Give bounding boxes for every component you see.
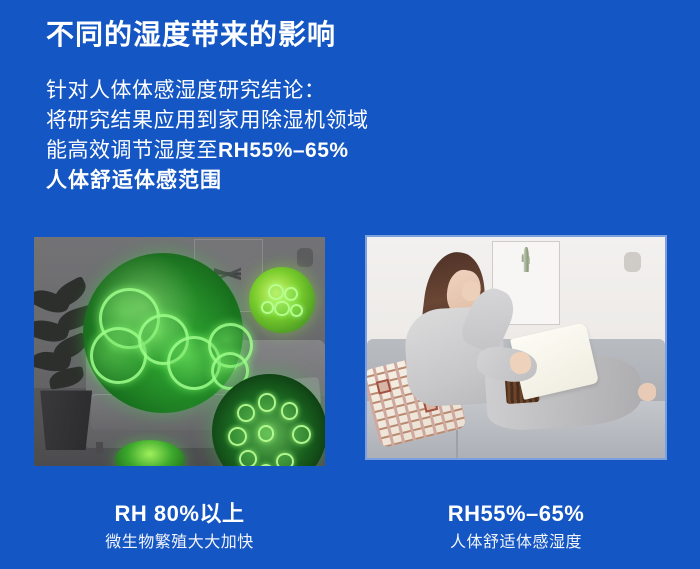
caption-title: RH 80%以上 xyxy=(34,500,325,528)
person-foot xyxy=(638,383,656,401)
microbe-spike xyxy=(281,402,299,420)
microbe-spike xyxy=(274,301,289,316)
microbe-spike xyxy=(237,404,255,422)
microbe-spike xyxy=(268,284,284,300)
cactus-arm xyxy=(528,256,530,264)
microbe-spike xyxy=(239,450,257,466)
caption-subtitle: 人体舒适体感湿度 xyxy=(367,532,665,554)
scene-dim-room-with-microbes xyxy=(34,237,325,466)
body-line-3-prefix: 能高效调节湿度至 xyxy=(46,139,218,162)
body-line-1: 针对人体体感湿度研究结论： xyxy=(46,76,369,106)
microbe-spike xyxy=(284,287,299,302)
pillow-motif xyxy=(376,379,392,395)
cactus-illustration-icon xyxy=(524,247,529,272)
cactus-arm xyxy=(522,254,524,262)
caption-comfort-humidity: RH55%–65% 人体舒适体感湿度 xyxy=(367,500,665,554)
microbe-spike xyxy=(261,301,274,314)
sofa-leg xyxy=(96,442,103,453)
body-line-4: 人体舒适体感范围 xyxy=(46,166,369,196)
caption-high-humidity: RH 80%以上 微生物繁殖大大加快 xyxy=(34,500,325,554)
wall-thermostat-icon xyxy=(297,248,313,267)
plant-pot xyxy=(37,390,92,450)
microbe-spike xyxy=(276,453,294,466)
microbe-spike xyxy=(258,464,275,466)
caption-subtitle: 微生物繁殖大大加快 xyxy=(34,532,325,554)
poster-root: 不同的湿度带来的影响 针对人体体感湿度研究结论： 将研究结果应用到家用除湿机领域… xyxy=(0,0,700,569)
microbe-cluster-large xyxy=(83,253,243,413)
photo-panel-high-humidity xyxy=(34,237,325,466)
body-line-3: 能高效调节湿度至RH55%–65% xyxy=(46,136,369,166)
microbe-spike xyxy=(292,425,311,444)
body-copy: 针对人体体感湿度研究结论： 将研究结果应用到家用除湿机领域 能高效调节湿度至RH… xyxy=(46,76,369,196)
caption-title: RH55%–65% xyxy=(367,500,665,528)
body-line-3-highlight: RH55%–65% xyxy=(218,139,349,162)
microbe-spike xyxy=(228,427,247,446)
photo-panel-comfort-humidity xyxy=(367,237,665,458)
microbe-spike xyxy=(258,425,275,442)
scene-woman-reading xyxy=(367,237,665,458)
page-title: 不同的湿度带来的影响 xyxy=(46,17,336,52)
body-line-2: 将研究结果应用到家用除湿机领域 xyxy=(46,106,369,136)
microbe-spike xyxy=(290,304,303,317)
microbe-spike xyxy=(258,393,277,412)
wall-thermostat-icon xyxy=(624,252,641,272)
microbe-sphere-bright xyxy=(249,267,315,333)
